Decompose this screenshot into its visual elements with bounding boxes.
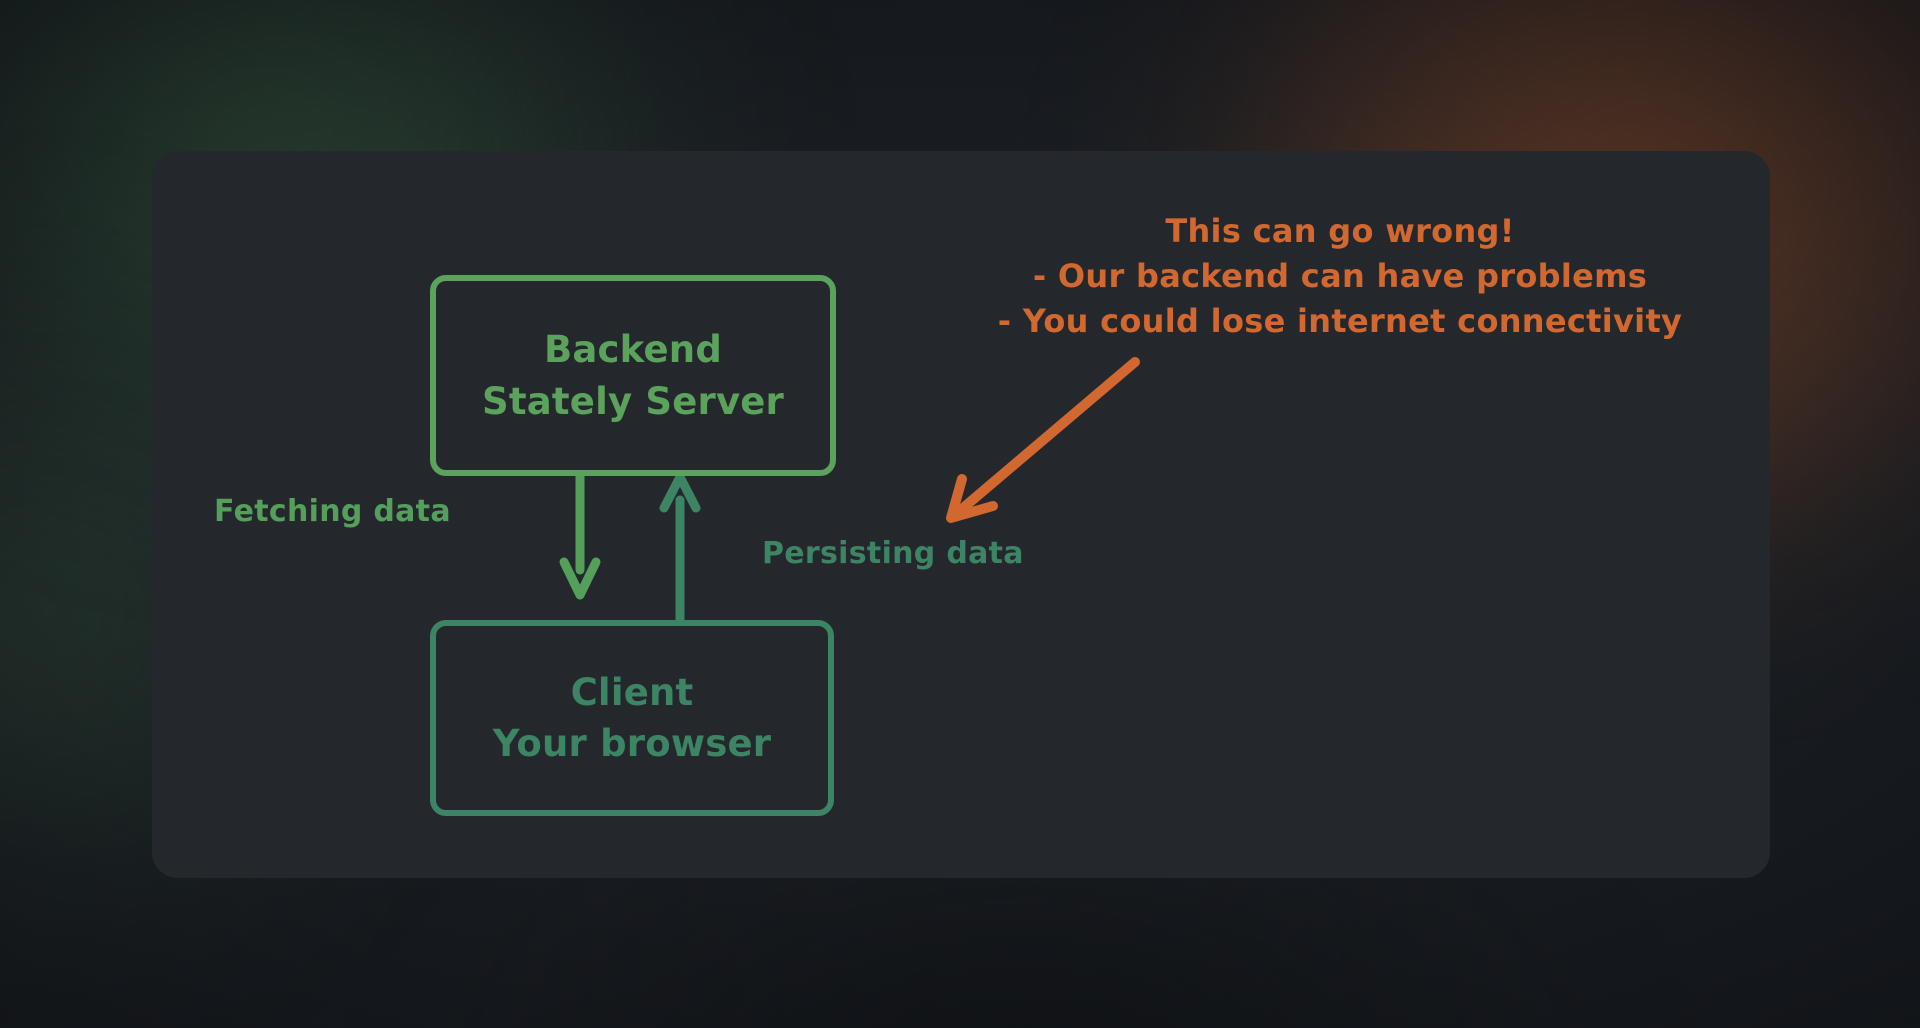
node-client-subtitle: Your browser xyxy=(493,721,771,766)
node-client[interactable]: Client Your browser xyxy=(430,620,834,816)
node-client-title: Client xyxy=(571,670,694,715)
edge-label-fetching-data: Fetching data xyxy=(214,494,451,529)
diagram-canvas: Backend Stately Server Client Your brows… xyxy=(0,0,1920,1028)
node-backend[interactable]: Backend Stately Server xyxy=(430,275,836,476)
annotation-bullet-2: - You could lose internet connectivity xyxy=(960,302,1720,340)
annotation-heading: This can go wrong! xyxy=(960,212,1720,250)
node-backend-subtitle: Stately Server xyxy=(482,379,784,424)
annotation-warning: This can go wrong! - Our backend can hav… xyxy=(960,212,1720,340)
edge-label-persisting-data: Persisting data xyxy=(762,536,1024,571)
annotation-bullet-1: - Our backend can have problems xyxy=(960,257,1720,295)
node-backend-title: Backend xyxy=(544,327,722,372)
